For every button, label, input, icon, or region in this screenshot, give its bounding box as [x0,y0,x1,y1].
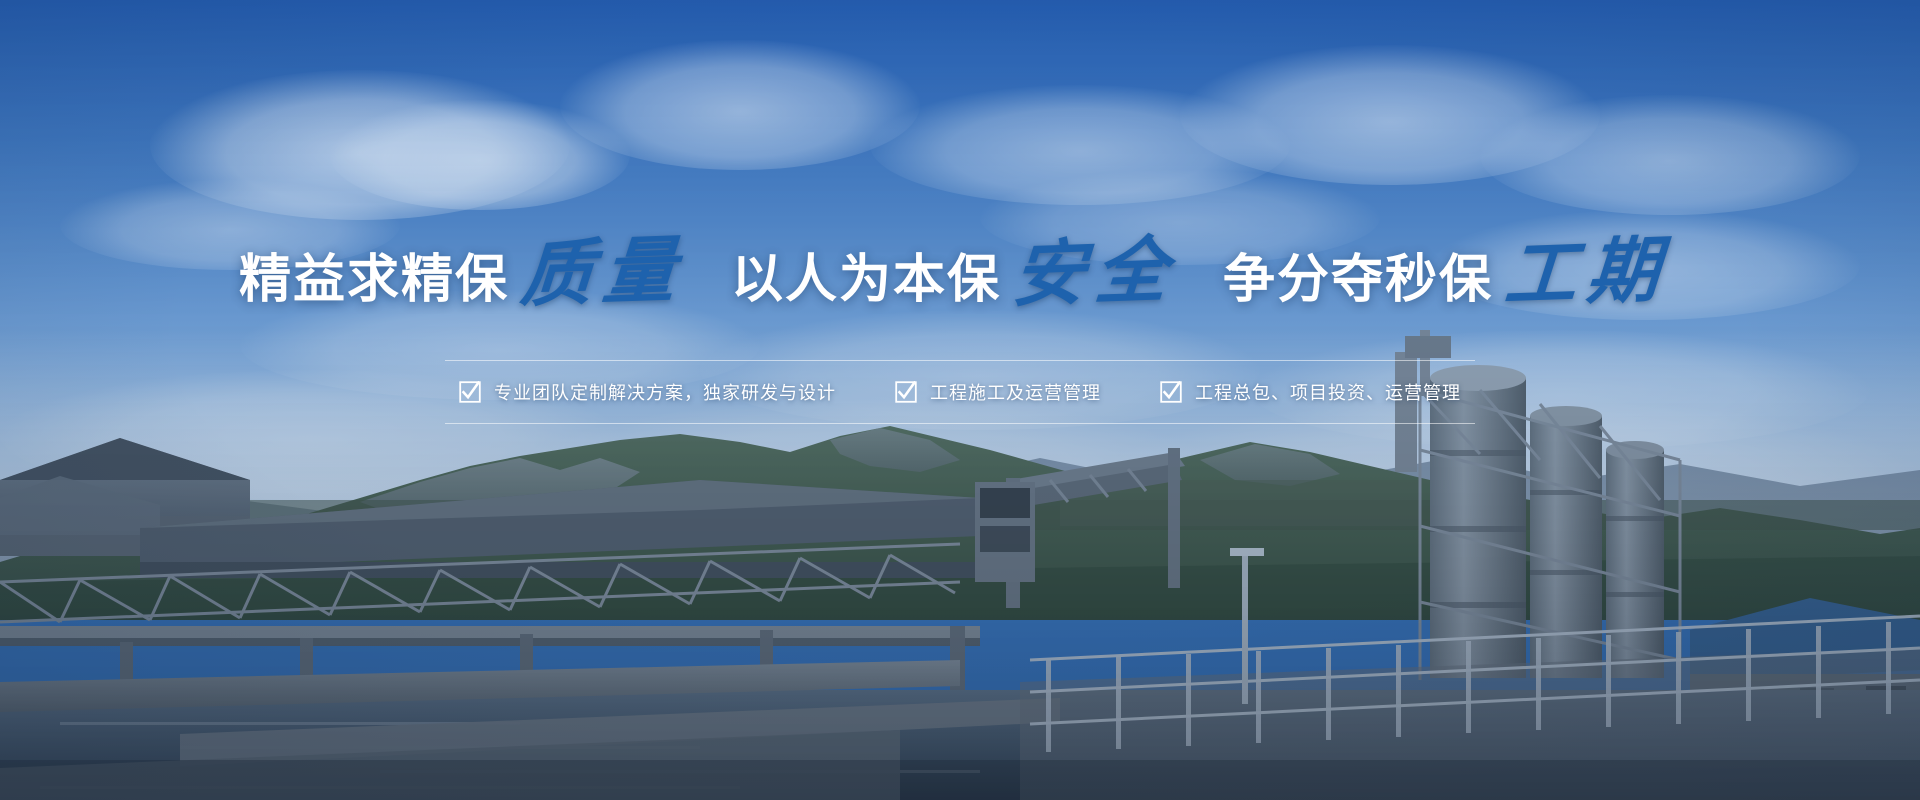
hero-banner: 精益求精保 质量 以人为本保 安全 争分夺秒保 工期 专业团队定制解决方案，独家… [0,0,1920,800]
headline-segment-1: 精益求精保 [239,254,509,306]
feature-label-3: 工程总包、项目投资、运营管理 [1195,379,1461,405]
checkbox-checked-icon [1160,381,1182,403]
feature-label-1: 专业团队定制解决方案，独家研发与设计 [494,379,836,405]
headline-segment-2: 以人为本保 [731,254,1001,306]
feature-label-2: 工程施工及运营管理 [930,379,1101,405]
headline: 精益求精保 质量 以人为本保 安全 争分夺秒保 工期 [239,236,1681,308]
feature-item-3[interactable]: 工程总包、项目投资、运营管理 [1160,379,1461,405]
feature-item-2[interactable]: 工程施工及运营管理 [895,379,1101,405]
banner-content: 精益求精保 质量 以人为本保 安全 争分夺秒保 工期 专业团队定制解决方案，独家… [0,0,1920,800]
feature-item-1[interactable]: 专业团队定制解决方案，独家研发与设计 [459,379,836,405]
checkbox-checked-icon [459,381,481,403]
headline-accent-quality: 质量 [506,233,700,312]
headline-segment-3: 争分夺秒保 [1223,254,1493,306]
headline-accent-schedule: 工期 [1490,233,1684,312]
checkbox-checked-icon [895,381,917,403]
feature-strip: 专业团队定制解决方案，独家研发与设计 工程施工及运营管理 工程总包、项目投资、运… [445,360,1475,424]
headline-accent-safety: 安全 [998,233,1192,312]
feature-list: 专业团队定制解决方案，独家研发与设计 工程施工及运营管理 工程总包、项目投资、运… [445,361,1475,423]
divider-bottom [445,423,1475,424]
